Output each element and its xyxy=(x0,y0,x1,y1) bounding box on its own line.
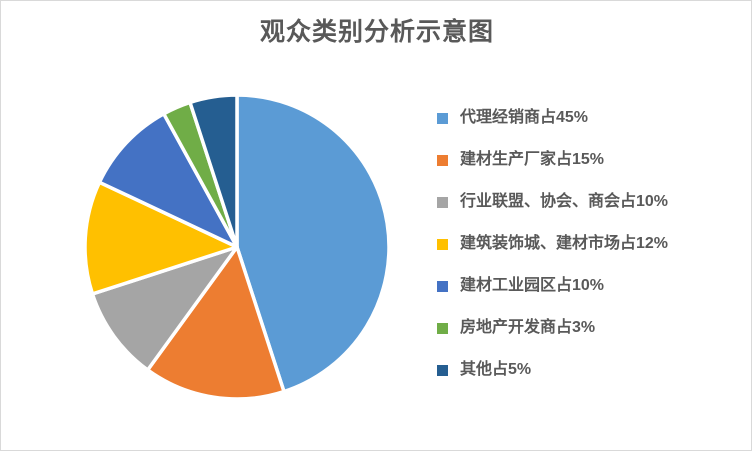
legend-color-swatch xyxy=(437,239,448,250)
legend-color-swatch xyxy=(437,281,448,292)
pie-chart-plot-area xyxy=(81,89,396,404)
pie-slice-group xyxy=(85,95,389,399)
legend-item[interactable]: 建材工业园区占10% xyxy=(437,265,737,307)
legend-item-label: 建材工业园区占10% xyxy=(460,276,604,296)
chart-title: 观众类别分析示意图 xyxy=(1,15,752,49)
legend-item-label: 建筑装饰城、建材市场占12% xyxy=(460,234,668,254)
legend-item[interactable]: 建筑装饰城、建材市场占12% xyxy=(437,223,737,265)
legend-item-label: 其他占5% xyxy=(460,360,531,380)
legend-item-label: 建材生产厂家占15% xyxy=(460,150,604,170)
legend-color-swatch xyxy=(437,197,448,208)
legend-color-swatch xyxy=(437,323,448,334)
legend-item[interactable]: 代理经销商占45% xyxy=(437,97,737,139)
legend-color-swatch xyxy=(437,113,448,124)
chart-legend: 代理经销商占45%建材生产厂家占15%行业联盟、协会、商会占10%建筑装饰城、建… xyxy=(437,97,737,391)
legend-item-label: 房地产开发商占3% xyxy=(460,318,595,338)
pie-chart-card: 观众类别分析示意图 代理经销商占45%建材生产厂家占15%行业联盟、协会、商会占… xyxy=(0,0,752,451)
legend-item-label: 行业联盟、协会、商会占10% xyxy=(460,192,668,212)
legend-item[interactable]: 其他占5% xyxy=(437,349,737,391)
legend-item[interactable]: 房地产开发商占3% xyxy=(437,307,737,349)
legend-color-swatch xyxy=(437,155,448,166)
legend-color-swatch xyxy=(437,365,448,376)
legend-item[interactable]: 行业联盟、协会、商会占10% xyxy=(437,181,737,223)
pie-chart-svg xyxy=(81,89,396,404)
legend-item[interactable]: 建材生产厂家占15% xyxy=(437,139,737,181)
legend-item-label: 代理经销商占45% xyxy=(460,108,588,128)
